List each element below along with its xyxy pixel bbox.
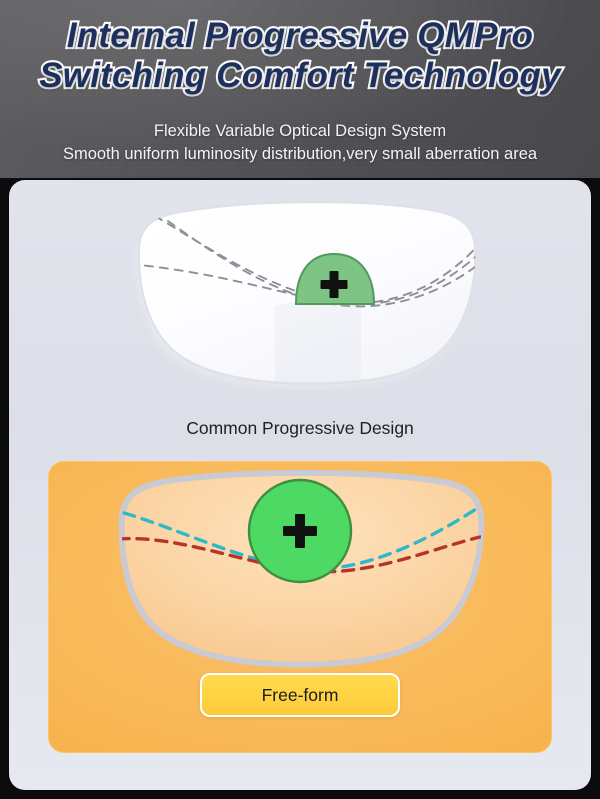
page-title: Internal Progressive QMPro Switching Com… bbox=[0, 16, 600, 96]
content-card: Common Progressive Design bbox=[9, 180, 591, 790]
bottom-edge-strip bbox=[0, 790, 600, 799]
free-form-button-label: Free-form bbox=[262, 685, 339, 706]
common-design-panel: Common Progressive Design bbox=[9, 180, 591, 445]
page-subtitle: Flexible Variable Optical Design System … bbox=[0, 120, 600, 166]
common-design-caption: Common Progressive Design bbox=[9, 417, 591, 439]
header-banner: Internal Progressive QMPro Switching Com… bbox=[0, 0, 600, 178]
near-vision-zone-circle bbox=[249, 480, 351, 582]
free-form-lens bbox=[104, 469, 496, 673]
product-infographic: Internal Progressive QMPro Switching Com… bbox=[0, 0, 600, 799]
free-form-button[interactable]: Free-form bbox=[200, 673, 400, 717]
free-form-panel: Free-form bbox=[48, 461, 552, 753]
common-progressive-lens bbox=[125, 194, 485, 390]
